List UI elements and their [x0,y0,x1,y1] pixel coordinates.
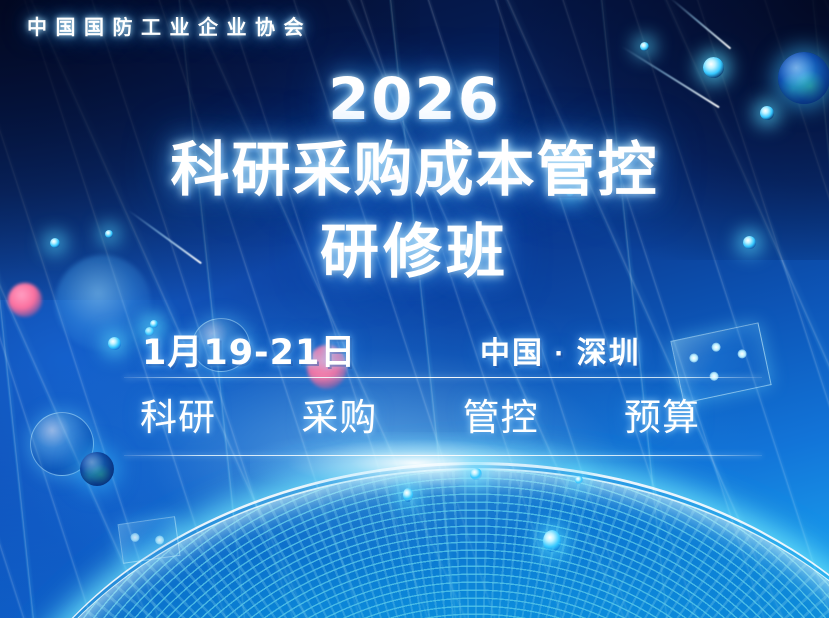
particle-icon [150,320,158,328]
event-poster: 中国国防工业企业协会 2026 科研采购成本管控 研修班 1月19-21日 中国… [0,0,829,618]
keyword-item-budget: 预算 [624,396,700,440]
keyword-item-procurement: 采购 [301,396,377,440]
particle-icon [108,337,121,350]
earth-orb-small-icon [80,452,114,486]
horizon-light-burst-icon [250,432,580,494]
particle-icon [470,468,482,480]
page-title: 科研采购成本管控 [0,138,829,202]
dotted-globe-icon [0,468,829,618]
particle-icon [575,476,583,484]
page-subtitle: 研修班 [0,220,829,284]
organization-name: 中国国防工业企业协会 [27,11,312,40]
glass-cube-small-icon [117,516,180,564]
bubble-orb-icon [30,412,94,476]
keyword-item-control: 管控 [463,396,539,440]
keyword-list: 科研 采购 管控 预算 [140,396,700,440]
particle-icon [543,530,561,552]
light-trail-icon [669,0,732,49]
pink-orb-icon [8,283,42,317]
event-date: 1月19-21日 [142,333,356,373]
particle-icon [403,488,413,502]
event-meta-row: 1月19-21日 中国 · 深圳 [140,333,700,375]
event-year: 2026 [0,70,829,128]
globe-rim-highlight [0,462,829,618]
keyword-item-research: 科研 [140,396,216,440]
divider-top [124,377,762,378]
event-location: 中国 · 深圳 [480,334,641,374]
particle-icon [640,42,649,51]
divider-bottom [124,455,762,456]
